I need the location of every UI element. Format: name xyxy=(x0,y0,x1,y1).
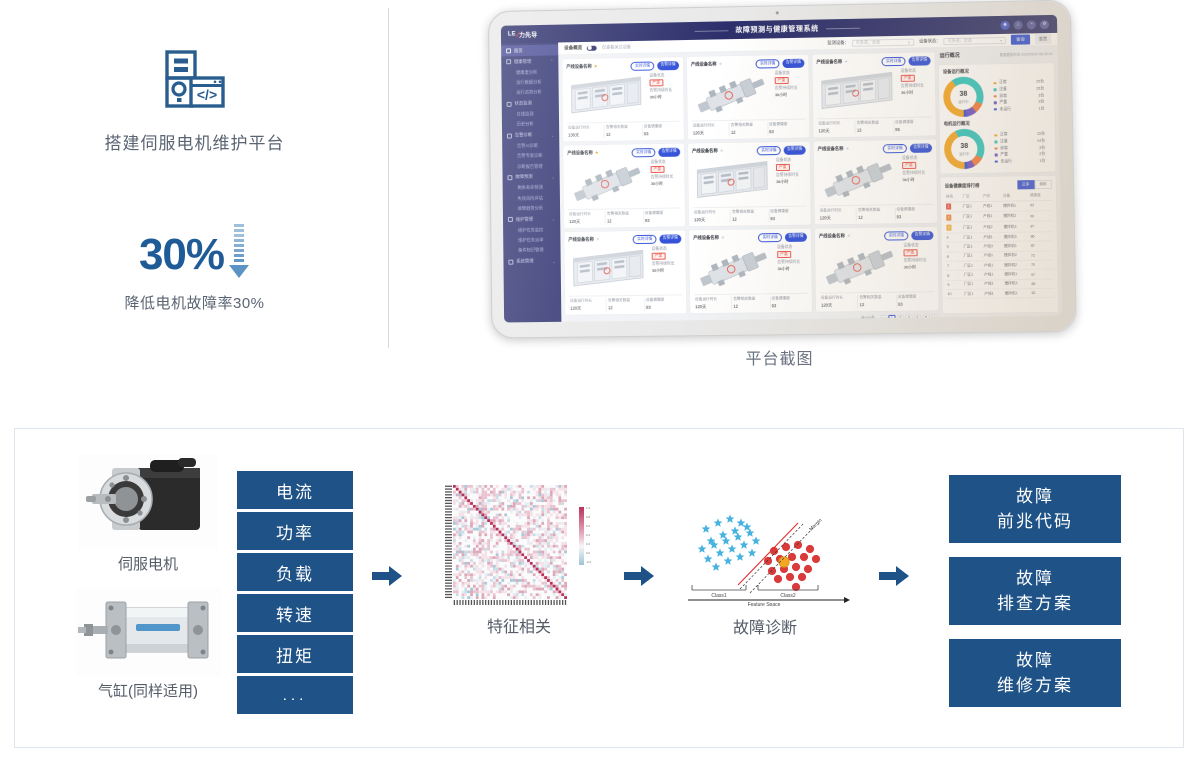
device-status-block: 设备状态 严重 告警持续时长 36小时 xyxy=(903,242,934,288)
sidebar-subitem[interactable]: 备件知识管理 xyxy=(503,245,560,256)
table-cell: 产线1 xyxy=(982,232,1002,242)
svg-text:0.2: 0.2 xyxy=(586,542,591,546)
device-card-body: 设备状态 严重 告警持续时长 36小时 xyxy=(818,155,933,202)
pagination-page[interactable]: 2 xyxy=(897,315,904,322)
legend-label: 正常 xyxy=(999,80,1007,85)
user-icon[interactable]: ☻ xyxy=(1000,20,1009,29)
metric-alarm-count: 告警相关数量12 xyxy=(732,296,770,309)
legend-item: 严重 3台 xyxy=(994,99,1051,105)
favorite-star-icon[interactable]: ★ xyxy=(594,64,598,70)
favorite-star-icon[interactable]: ★ xyxy=(721,235,725,241)
favorite-star-icon[interactable]: ★ xyxy=(718,61,722,67)
medal-badge: 1 xyxy=(946,204,951,210)
svg-text:0.0: 0.0 xyxy=(586,551,591,555)
realtime-detail-button[interactable]: 实时详情 xyxy=(884,231,908,240)
legend-value: 3台 xyxy=(1038,99,1050,104)
device-card[interactable]: 产线设备名称 ★ 实时详情 告警详情 设备状态 严重 xyxy=(687,55,810,140)
table-cell: 厂区1 xyxy=(962,242,982,252)
realtime-detail-button[interactable]: 实时详情 xyxy=(881,56,905,65)
bell-icon[interactable]: ◔ xyxy=(1027,20,1036,29)
donut-chart: 38 运行中 xyxy=(943,76,984,117)
realtime-detail-button[interactable]: 实时详情 xyxy=(758,232,782,241)
arrow-right-icon xyxy=(372,564,402,588)
legend-color-swatch xyxy=(994,95,997,98)
class2-label: Class2 xyxy=(780,593,796,599)
output-box: 故障 维修方案 xyxy=(949,639,1121,707)
sidebar-item-label: 首页 xyxy=(514,48,523,54)
equipment-caption: 伺服电机 xyxy=(73,553,223,574)
table-cell: 70 xyxy=(1030,260,1053,270)
table-cell: 7 xyxy=(946,261,963,271)
pagination-page[interactable]: 1 xyxy=(888,315,895,322)
device-image xyxy=(568,246,648,292)
home-icon xyxy=(506,48,511,53)
device-status-block: 设备状态 严重 告警持续时长 36小时 xyxy=(901,68,932,114)
device-status-block: 设备状态 严重 告警持续时长 36小时 xyxy=(649,72,679,117)
metric-health: 设备健康度93 xyxy=(644,210,681,223)
device-filter-value: 可多选，全选 xyxy=(856,39,880,45)
table-cell: 67 xyxy=(1030,269,1053,279)
device-card-header: 产线设备名称 ★ 实时详情 告警详情 xyxy=(693,232,807,243)
svg-text:0.4: 0.4 xyxy=(586,533,591,537)
technical-solution-panel: 伺服电机 xyxy=(14,428,1184,748)
feature-space-label: Feature Space xyxy=(747,602,780,606)
legend-value: 15台 xyxy=(1036,86,1050,91)
duration-key: 告警持续时长 xyxy=(902,171,932,176)
overview-title: 运行概况 xyxy=(940,52,960,59)
donut-chart-title: 设备运行概况 xyxy=(943,67,1050,75)
device-card[interactable]: 产线设备名称 ★ 实时详情 告警详情 设备状态 严重 xyxy=(815,227,939,312)
flow-arrow-1 xyxy=(370,561,404,591)
home-icon[interactable]: ⌂ xyxy=(1014,20,1023,29)
sidebar-item-label: 告警诊断 xyxy=(515,132,532,138)
pagination-prev[interactable]: ‹ xyxy=(880,315,887,322)
device-card-footer: 设备运行时长120天 告警相关数量12 设备健康度93 xyxy=(568,207,681,225)
app-content: 设备概览 仅查看关注设备 监测设备： 可多选，全选 ▾ xyxy=(558,33,1062,322)
tablet-screen: LE/力先导 故障预测与健康管理系统 ☻ ⌂ ◔ ✲ xyxy=(501,15,1062,323)
legend-value: 14台 xyxy=(1037,138,1051,143)
table-cell: 搅拌机3 xyxy=(1003,232,1030,242)
main-split: 产线设备名称 ★ 实时详情 告警详情 xyxy=(558,46,1062,322)
gear-icon[interactable]: ✲ xyxy=(1040,20,1049,29)
pagination-page[interactable]: 3 xyxy=(906,315,913,322)
legend-color-swatch xyxy=(994,102,997,105)
metric-alarm-count: 告警相关数量12 xyxy=(731,209,769,222)
device-status-block: 设备状态 严重 告警持续时长 36小时 xyxy=(777,244,808,289)
metric-runtime: 设备运行时长120天 xyxy=(819,208,858,221)
device-card[interactable]: 产线设备名称 ★ 实时详情 告警详情 设备状态 严重 xyxy=(689,229,812,314)
alarm-detail-button[interactable]: 告警详情 xyxy=(658,147,680,156)
signal-box: 电流 xyxy=(237,471,353,509)
alarm-detail-button[interactable]: 告警详情 xyxy=(657,61,679,70)
device-image xyxy=(691,71,771,117)
status-badge: 严重 xyxy=(777,250,791,258)
output-line-1: 故障 xyxy=(1016,648,1054,674)
device-image xyxy=(692,158,772,204)
legend-color-swatch xyxy=(994,134,997,137)
status-key: 设备状态 xyxy=(903,242,933,247)
metric-health: 设备健康度93 xyxy=(769,209,806,222)
device-card[interactable]: 产线设备名称 ★ 实时详情 告警详情 设备状态 严重 xyxy=(814,139,938,224)
table-cell: 厂区1 xyxy=(962,222,982,233)
favorites-toggle[interactable] xyxy=(587,45,597,50)
device-card[interactable]: 产线设备名称 ★ 实时详情 告警详情 xyxy=(688,142,811,227)
device-card[interactable]: 产线设备名称 ★ 实时详情 告警详情 xyxy=(562,57,684,142)
favorite-star-icon[interactable]: ★ xyxy=(720,148,724,154)
donut-chart-title: 电机运行概况 xyxy=(944,119,1051,127)
fault-diagnosis-figure: Margin Class1 Class2 Feature Space 故障诊断 xyxy=(665,501,865,638)
pagination-next[interactable]: › xyxy=(931,314,938,321)
device-image xyxy=(819,243,900,289)
device-card-body: 设备状态 严重 告警持续时长 36小时 xyxy=(568,246,682,292)
overview-panel: 运行概况 数据更新时间 2020/05/20 08:30:00 设备运行概况 3… xyxy=(938,46,1062,317)
table-cell: 产线1 xyxy=(982,201,1002,212)
alert-icon xyxy=(507,133,512,138)
device-card-body: 设备状态 严重 告警持续时长 36小时 xyxy=(693,244,807,291)
chevron-icon: ⌃ xyxy=(550,59,553,64)
table-cell: 87 xyxy=(1029,221,1052,232)
sidebar-item-label: 故障预测 xyxy=(515,174,532,180)
ranking-column-header: 厂区 xyxy=(961,192,981,201)
legend-item: 未运行 1台 xyxy=(995,158,1052,164)
table-cell: 产线1 xyxy=(983,279,1003,289)
arrow-right-icon xyxy=(624,564,654,588)
table-cell: 厂区1 xyxy=(963,289,983,299)
device-card-footer: 设备运行时长120天 告警相关数量12 设备健康度93 xyxy=(693,205,807,223)
table-cell: 产线2 xyxy=(982,222,1002,233)
device-card-header: 产线设备名称 ★ 实时详情 告警详情 xyxy=(816,56,930,67)
device-name: 产线设备名称 xyxy=(693,235,719,241)
metric-block: 30% 降低电机故障率30% xyxy=(0,228,389,313)
status-badge: 严重 xyxy=(902,161,916,169)
status-badge: 严重 xyxy=(652,252,666,260)
metric-alarm-count: 告警相关数量12 xyxy=(606,211,644,224)
pagination-total: 共400条 xyxy=(861,316,875,321)
metric-caption: 降低电机故障率30% xyxy=(0,292,389,313)
status-key: 设备状态 xyxy=(649,72,679,78)
table-cell: 搅拌机1 xyxy=(1003,241,1030,251)
svg-text:0.8: 0.8 xyxy=(586,515,591,519)
device-card-body: 设备状态 严重 告警持续时长 36小时 xyxy=(691,70,805,117)
device-name: 产线设备名称 xyxy=(568,237,594,243)
vertical-divider xyxy=(388,8,389,348)
medal-badge: 2 xyxy=(946,214,951,220)
table-row[interactable]: 10厂区1产线1搅拌机162 xyxy=(946,288,1053,299)
pagination-page[interactable]: 4 xyxy=(914,315,921,322)
duration-key: 告警持续时长 xyxy=(650,88,680,94)
table-cell: 产线1 xyxy=(983,289,1003,299)
metric-health: 设备健康度93 xyxy=(770,296,808,309)
device-name: 产线设备名称 xyxy=(691,61,717,67)
status-filter: 设备状态： 可多选，全选 ▾ xyxy=(919,36,1006,45)
legend-value: 3台 xyxy=(1039,145,1051,150)
realtime-detail-button[interactable]: 实时详情 xyxy=(631,61,655,70)
device-card-footer: 设备运行时长120天 告警相关数量12 设备健康度93 xyxy=(569,294,682,311)
alarm-detail-button[interactable]: 告警详情 xyxy=(783,145,805,154)
legend-item: 异常 3台 xyxy=(995,145,1052,151)
ranking-column-header: 健康度 xyxy=(1029,191,1052,200)
duration-value: 36小时 xyxy=(902,177,932,183)
device-image xyxy=(567,160,647,206)
alarm-detail-button[interactable]: 告警详情 xyxy=(785,232,807,241)
device-status-block: 设备状态 严重 告警持续时长 36小时 xyxy=(775,70,806,115)
figure-caption: 特征相关 xyxy=(419,613,619,637)
device-filter-label: 监测设备： xyxy=(827,40,849,46)
favorite-star-icon[interactable]: ★ xyxy=(595,150,599,156)
alarm-detail-button[interactable]: 告警详情 xyxy=(911,230,933,239)
device-card-body: 设备状态 严重 告警持续时长 36小时 xyxy=(817,68,932,115)
correlation-heatmap-chart: 1.00.8 0.60.4 0.20.0 -0.2 xyxy=(439,477,599,605)
donut-charts-panel: 设备运行概况 38 运行中 正常 15台 注意 15台 xyxy=(939,63,1056,173)
device-card-footer: 设备运行时长120天 告警相关数量13 设备健康度95 xyxy=(817,116,932,134)
monitor-icon xyxy=(507,101,512,106)
status-key: 设备状态 xyxy=(776,157,806,162)
table-cell: 搅拌机1 xyxy=(1004,289,1031,299)
legend-value: 1台 xyxy=(1038,106,1050,111)
alarm-detail-button[interactable]: 告警详情 xyxy=(782,58,804,67)
table-cell: 产线1 xyxy=(983,251,1003,261)
table-cell: 搅拌机1 xyxy=(1003,270,1030,280)
metric-runtime: 设备运行时长120天 xyxy=(817,121,856,134)
equipment-motor-image xyxy=(693,245,773,291)
sidebar-item[interactable]: 故障预测⌄ xyxy=(502,171,559,183)
pdm-application: LE/力先导 故障预测与健康管理系统 ☻ ⌂ ◔ ✲ xyxy=(501,15,1062,323)
equipment-cabinet-image xyxy=(692,158,772,204)
flow-arrow-2 xyxy=(622,561,656,591)
ranking-sort-tab[interactable]: 倒序 xyxy=(1034,180,1052,189)
alarm-detail-button[interactable]: 告警详情 xyxy=(908,56,930,65)
legend-label: 严重 xyxy=(1000,152,1008,157)
legend-value: 15台 xyxy=(1037,132,1051,137)
device-card[interactable]: 产线设备名称 ★ 实时详情 告警详情 xyxy=(812,52,936,137)
device-card-row: 产线设备名称 ★ 实时详情 告警详情 xyxy=(564,227,938,315)
device-card-header: 产线设备名称 ★ 实时详情 告警详情 xyxy=(567,147,680,158)
status-key: 设备状态 xyxy=(775,70,805,76)
legend-item: 严重 2台 xyxy=(995,152,1052,158)
slide-root: </> 搭建伺服电机维护平台 30% 降低电机故障率30% xyxy=(0,0,1198,764)
app-logo[interactable]: LE/力先导 xyxy=(508,30,538,39)
metric-alarm-count: 告警相关数量13 xyxy=(858,295,897,308)
table-cell: 搅拌机2 xyxy=(1002,211,1029,222)
reset-button[interactable]: 重置 xyxy=(1035,34,1052,44)
metric-health: 设备健康度93 xyxy=(768,122,805,135)
logo-suffix: 力先导 xyxy=(519,30,537,39)
arrow-right-icon xyxy=(879,564,909,588)
table-cell: 厂区1 xyxy=(963,261,983,271)
duration-value: 36小时 xyxy=(777,266,807,272)
chevron-icon: ⌄ xyxy=(551,132,554,137)
signal-box: 扭矩 xyxy=(237,635,353,673)
device-card-header: 产线设备名称 ★ 实时详情 告警详情 xyxy=(566,61,679,72)
donut-center-value: 38 xyxy=(959,90,967,97)
device-card-row: 产线设备名称 ★ 实时详情 告警详情 设备状态 严重 xyxy=(563,139,937,228)
chevron-down-icon: ▾ xyxy=(1000,37,1002,42)
signal-box: ... xyxy=(237,676,353,714)
status-badge: 严重 xyxy=(649,79,663,87)
legend-label: 注意 xyxy=(1000,139,1008,144)
status-filter-value: 可多选，全选 xyxy=(948,38,972,44)
metric-health: 设备健康度93 xyxy=(645,297,682,310)
status-filter-label: 设备状态： xyxy=(919,38,941,44)
sidebar-item-label: 健康管理 xyxy=(514,59,531,65)
alarm-detail-button[interactable]: 告警详情 xyxy=(910,143,932,152)
pagination-page[interactable]: 5 xyxy=(923,314,930,321)
device-name: 产线设备名称 xyxy=(816,59,842,65)
table-cell: 9 xyxy=(946,280,963,290)
duration-key: 告警持续时长 xyxy=(652,262,682,267)
metric-runtime: 设备运行时长120天 xyxy=(568,212,606,225)
device-image xyxy=(818,156,899,202)
app-title: 故障预测与健康管理系统 xyxy=(688,23,867,36)
equipment-column: 伺服电机 xyxy=(73,454,223,701)
output-line-1: 故障 xyxy=(1016,484,1054,510)
table-cell: 93 xyxy=(1029,200,1052,211)
ranking-panel: 设备健康度排行榜 正序倒序 排名厂区产线设备健康度 1厂区1产线1搅拌机1932… xyxy=(941,176,1059,314)
legend-label: 严重 xyxy=(999,100,1007,105)
feature-correlation-figure: 1.00.8 0.60.4 0.20.0 -0.2 特征相关 xyxy=(419,477,619,637)
realtime-detail-button[interactable]: 实时详情 xyxy=(633,234,657,243)
duration-value: 36小时 xyxy=(651,181,681,187)
donut-chart: 38 运行中 xyxy=(944,129,985,170)
class1-label: Class1 xyxy=(711,593,727,599)
legend-color-swatch xyxy=(994,88,997,91)
switch-hint: 仅查看关注设备 xyxy=(602,44,631,51)
device-card-header: 产线设备名称 ★ 实时详情 告警详情 xyxy=(568,234,681,245)
table-cell: 厂区1 xyxy=(963,280,983,290)
output-line-1: 故障 xyxy=(1016,566,1054,592)
device-card-header: 产线设备名称 ★ 实时详情 告警详情 xyxy=(819,230,934,241)
donut-center-label: 运行中 xyxy=(959,150,969,155)
legend-item: 注意 14台 xyxy=(994,138,1051,144)
metric-runtime: 设备运行时长120天 xyxy=(693,210,731,223)
realtime-detail-button[interactable]: 实时详情 xyxy=(756,59,780,68)
metric-alarm-count: 告警相关数量12 xyxy=(605,124,643,137)
status-badge: 严重 xyxy=(776,163,790,171)
duration-value: 36小时 xyxy=(650,94,680,100)
status-badge: 严重 xyxy=(903,249,917,257)
device-card[interactable]: 产线设备名称 ★ 实时详情 告警详情 xyxy=(564,230,686,314)
app-header-icons: ☻ ⌂ ◔ ✲ xyxy=(1000,20,1049,30)
search-button[interactable]: 查询 xyxy=(1011,35,1030,45)
sidebar-item[interactable]: 维护管理⌄ xyxy=(503,213,560,225)
device-card-row: 产线设备名称 ★ 实时详情 告警详情 xyxy=(562,52,936,141)
figure-caption: 故障诊断 xyxy=(665,614,865,638)
table-cell: 8 xyxy=(946,271,963,281)
favorite-star-icon[interactable]: ★ xyxy=(844,59,848,65)
realtime-detail-button[interactable]: 实时详情 xyxy=(632,148,656,157)
table-cell: 厂区1 xyxy=(963,270,983,280)
device-card-footer: 设备运行时长120天 告警相关数量13 设备健康度93 xyxy=(820,291,935,308)
device-card-footer: 设备运行时长130天 告警相关数量12 设备健康度93 xyxy=(567,120,680,138)
status-filter-select[interactable]: 可多选，全选 ▾ xyxy=(944,36,1007,44)
duration-key: 告警持续时长 xyxy=(901,84,931,90)
signal-box: 转速 xyxy=(237,594,353,632)
tablet-body: LE/力先导 故障预测与健康管理系统 ☻ ⌂ ◔ ✲ xyxy=(488,0,1077,339)
table-cell: 产线1 xyxy=(983,270,1003,280)
table-cell: 厂区1 xyxy=(962,233,982,243)
metric-alarm-count: 告警相关数量12 xyxy=(607,298,645,311)
duration-value: 36小时 xyxy=(652,268,682,274)
down-arrow-icon xyxy=(228,224,250,282)
legend-item: 异常 3台 xyxy=(994,93,1051,99)
metric-health: 设备健康度93 xyxy=(643,124,680,137)
device-card[interactable]: 产线设备名称 ★ 实时详情 告警详情 设备状态 严重 xyxy=(563,144,685,229)
rank-cell: 3 xyxy=(945,222,962,233)
table-cell: 产线3 xyxy=(983,242,1003,252)
equipment-motor-image xyxy=(819,243,900,289)
chevron-icon: ⌄ xyxy=(551,174,554,179)
metric-alarm-count: 告警相关数量13 xyxy=(856,120,895,133)
signal-box: 负载 xyxy=(237,553,353,591)
table-cell: 搅拌机3 xyxy=(1002,221,1029,232)
heart-icon xyxy=(506,60,511,65)
duration-value: 36小时 xyxy=(904,264,934,270)
table-cell: 86 xyxy=(1029,232,1052,242)
chart-icon xyxy=(507,175,512,180)
equipment-cabinet-image xyxy=(566,73,646,119)
app-sidebar: 首页健康管理⌃健康度分析运行数据分析运行态势分析状态监测在线监测历史分析告警诊断… xyxy=(501,42,561,322)
pneumatic-cylinder-image xyxy=(76,588,221,676)
equipment-item: 伺服电机 xyxy=(73,454,223,574)
table-cell: 90 xyxy=(1029,211,1052,222)
device-image xyxy=(566,73,646,119)
favorite-star-icon[interactable]: ★ xyxy=(847,233,851,239)
svg-text:-0.2: -0.2 xyxy=(586,560,592,564)
legend-value: 3台 xyxy=(1038,93,1050,98)
metric-value: 30% xyxy=(139,233,224,277)
table-cell: 66 xyxy=(1030,279,1053,289)
medal-badge: 3 xyxy=(946,225,951,231)
realtime-detail-button[interactable]: 实时详情 xyxy=(757,145,781,154)
legend-label: 未运行 xyxy=(1000,159,1012,164)
device-status-block: 设备状态 严重 告警持续时长 36小时 xyxy=(652,246,682,291)
device-name: 产线设备名称 xyxy=(819,233,845,239)
sidebar-item-label: 维护管理 xyxy=(516,216,533,222)
sidebar-item-label: 状态监测 xyxy=(514,101,531,107)
table-cell: 搅拌机1 xyxy=(1002,200,1029,211)
device-name: 产线设备名称 xyxy=(566,64,592,70)
metric-runtime: 设备运行时长120天 xyxy=(820,295,859,308)
ranking-column-header: 设备 xyxy=(1002,192,1029,201)
table-cell: 搅拌机3 xyxy=(1003,279,1030,289)
equipment-cabinet-image xyxy=(568,246,648,292)
device-card-body: 设备状态 严重 告警持续时长 36小时 xyxy=(819,242,934,289)
donut-legend: 正常 15台 注意 15台 异常 3台 严重 3台 未运行 1台 xyxy=(987,80,1050,113)
device-status-block: 设备状态 严重 告警持续时长 36小时 xyxy=(776,157,807,202)
platform-code-icon: </> xyxy=(155,48,235,112)
favorite-star-icon[interactable]: ★ xyxy=(596,237,600,243)
legend-color-swatch xyxy=(994,108,997,111)
ranking-sort-tab[interactable]: 正序 xyxy=(1017,180,1035,189)
status-key: 设备状态 xyxy=(652,246,682,251)
device-status-block: 设备状态 严重 告警持续时长 36小时 xyxy=(650,159,680,204)
legend-label: 异常 xyxy=(999,94,1007,99)
output-column: 故障 前兆代码 故障 排查方案 故障 维修方案 xyxy=(949,475,1121,707)
legend-item: 未运行 1台 xyxy=(994,106,1051,112)
realtime-detail-button[interactable]: 实时详情 xyxy=(883,143,907,152)
favorite-star-icon[interactable]: ★ xyxy=(845,146,849,152)
sidebar-item[interactable]: 系统管理⌄ xyxy=(503,256,560,268)
platform-highlight-panel: </> 搭建伺服电机维护平台 30% 降低电机故障率30% xyxy=(0,0,389,355)
status-key: 设备状态 xyxy=(902,155,932,160)
output-box: 故障 前兆代码 xyxy=(949,475,1121,543)
device-filter-select[interactable]: 可多选，全选 ▾ xyxy=(852,38,914,46)
tablet-caption: 平台截图 xyxy=(487,345,1072,369)
metric-alarm-count: 告警相关数量12 xyxy=(857,207,896,220)
donut-legend: 正常 15台 注意 14台 异常 3台 严重 2台 未运行 1台 xyxy=(988,132,1051,165)
device-card-grid: 产线设备名称 ★ 实时详情 告警详情 xyxy=(558,48,943,319)
alarm-detail-button[interactable]: 告警详情 xyxy=(659,234,681,243)
